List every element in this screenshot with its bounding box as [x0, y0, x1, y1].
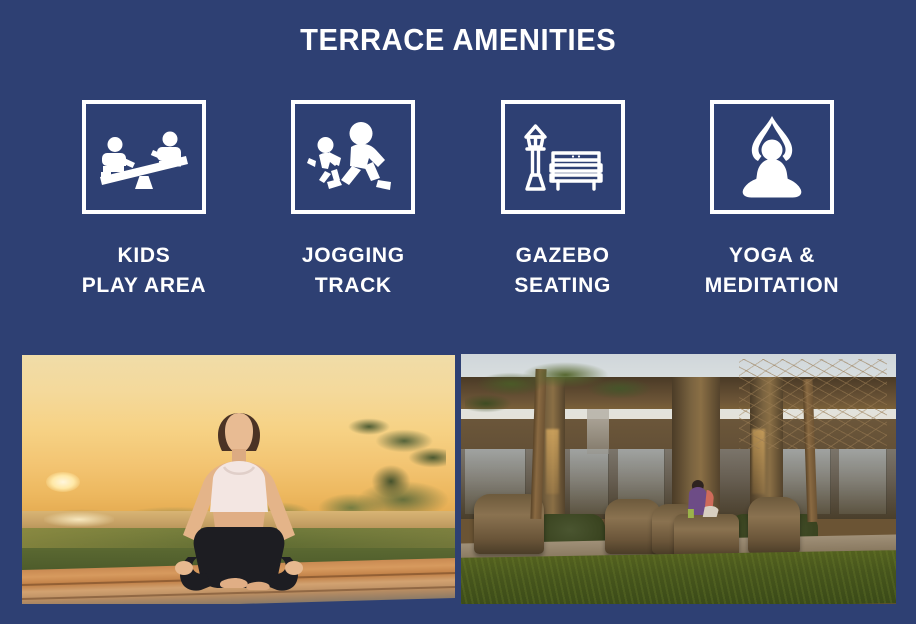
yoga-sunset-scene [22, 355, 455, 604]
lawn-texture [461, 550, 896, 604]
terrace-lounge-scene [461, 354, 896, 604]
icon-frame-yoga-meditation [710, 100, 834, 214]
seesaw-icon [98, 122, 190, 192]
water-reflection [44, 512, 114, 527]
amenity-yoga-meditation[interactable]: YOGA & MEDITATION [682, 100, 862, 315]
glass-pane [839, 449, 887, 514]
seated-people [683, 477, 727, 527]
yoga-sunset-photo [22, 355, 455, 604]
amenity-jogging-track[interactable]: JOGGING TRACK [263, 100, 443, 315]
amenity-kids-play-area[interactable]: KIDS PLAY AREA [54, 100, 234, 315]
amenity-label-gazebo-seating: GAZEBO SEATING [514, 241, 611, 301]
icon-frame-kids-play-area [82, 100, 206, 214]
running-figures-icon [307, 117, 399, 197]
title-bar: TERRACE AMENITIES [0, 0, 916, 78]
amenity-gazebo-seating[interactable]: GAZEBO SEATING [473, 100, 653, 315]
column-uplight [546, 429, 559, 494]
amenity-label-jogging-track: JOGGING TRACK [302, 241, 405, 301]
tree-foliage [465, 354, 674, 429]
glass-pane [570, 449, 609, 514]
bare-branches [739, 359, 887, 449]
amenity-label-kids-play-area: KIDS PLAY AREA [82, 241, 207, 301]
page-title: TERRACE AMENITIES [300, 24, 616, 55]
icon-frame-gazebo-seating [501, 100, 625, 214]
meditating-woman-silhouette [164, 405, 314, 604]
amenity-label-yoga-meditation: YOGA & MEDITATION [705, 241, 840, 301]
lamppost-bench-icon [517, 117, 609, 197]
icon-frame-jogging-track [291, 100, 415, 214]
amenities-row: KIDS PLAY AREA [0, 100, 916, 315]
terrace-lounge-photo [461, 354, 896, 604]
lotus-meditation-icon [733, 114, 811, 200]
photo-strip [0, 354, 916, 604]
terrace-amenities-poster: TERRACE AMENITIES [0, 0, 916, 624]
wicker-chair [748, 497, 800, 555]
